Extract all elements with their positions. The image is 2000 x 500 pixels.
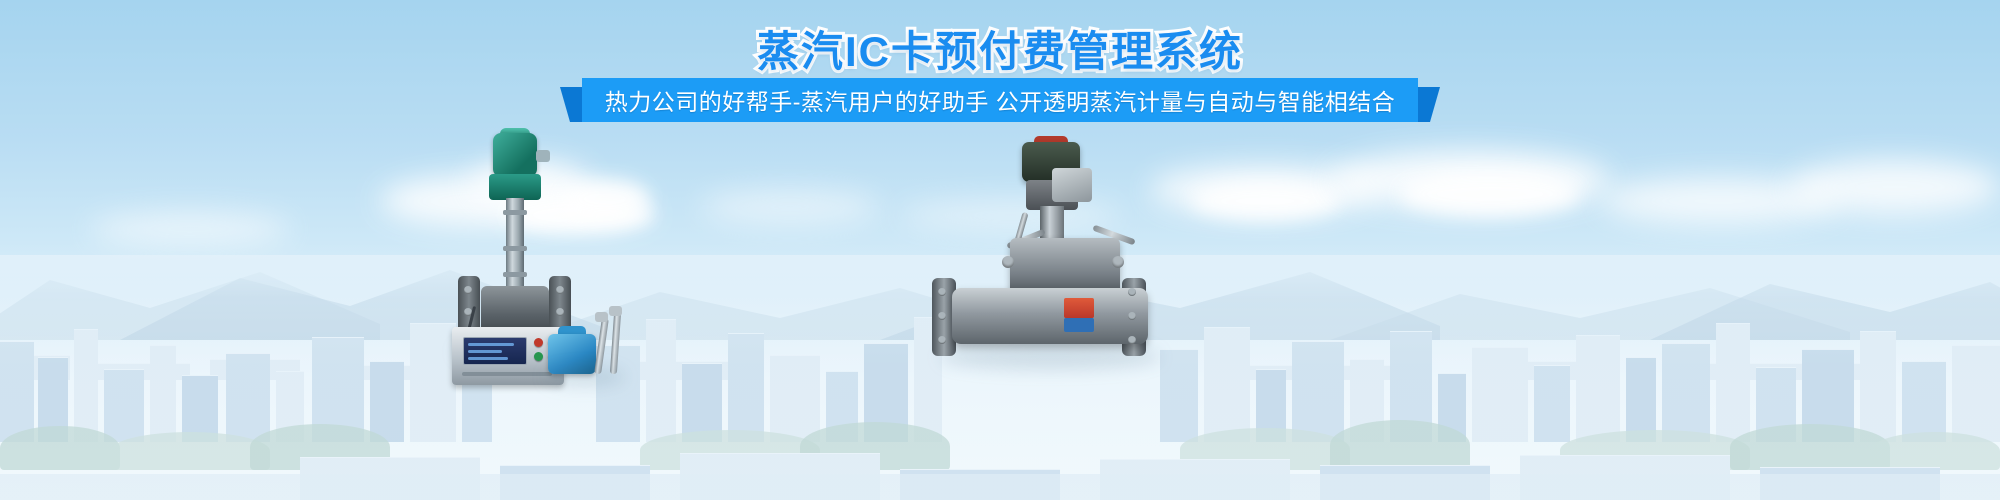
- cloud-shape: [1790, 160, 2000, 214]
- controller-button[interactable]: [534, 338, 543, 347]
- valve-nameplate-secondary: [1064, 318, 1094, 332]
- flange-bolt: [938, 312, 946, 320]
- meter-ring: [503, 246, 527, 251]
- valve-nameplate: [1064, 298, 1094, 318]
- flange-bolt: [938, 336, 946, 344]
- screen-readout-line: [468, 343, 514, 346]
- flange-bolt: [556, 286, 564, 294]
- meter-ring: [503, 272, 527, 277]
- flange-bolt: [1128, 312, 1136, 320]
- flange-bolt: [938, 288, 946, 296]
- flange-bolt: [1128, 336, 1136, 344]
- hero-banner: 蒸汽IC卡预付费管理系统 热力公司的好帮手-蒸汽用户的好助手 公开透明蒸汽计量与…: [0, 0, 2000, 500]
- meter-transmitter-head: [493, 133, 537, 177]
- banner-headline: 蒸汽IC卡预付费管理系统: [0, 18, 2000, 79]
- screen-readout-line: [468, 350, 502, 353]
- valve-knob: [1002, 256, 1014, 268]
- product-shadow: [545, 368, 625, 386]
- meter-ring: [503, 210, 527, 215]
- flange-bolt: [464, 286, 472, 294]
- meter-connector: [536, 150, 550, 162]
- banner-subtitle-ribbon: 热力公司的好帮手-蒸汽用户的好助手 公开透明蒸汽计量与自动与智能相结合: [0, 78, 2000, 122]
- controller-button[interactable]: [534, 352, 543, 361]
- meter-neck: [489, 174, 541, 200]
- flange-bolt: [1128, 288, 1136, 296]
- banner-subtitle: 热力公司的好帮手-蒸汽用户的好助手 公开透明蒸汽计量与自动与智能相结合: [582, 78, 1418, 122]
- valve-positioner: [1052, 168, 1092, 202]
- probe-tip: [609, 306, 622, 316]
- flange-bolt: [556, 308, 564, 316]
- valve-knob: [1112, 256, 1124, 268]
- screen-readout-line: [468, 357, 508, 360]
- valve-pipe-body: [952, 288, 1148, 344]
- probe-tip: [595, 312, 608, 322]
- housing-trim: [462, 372, 552, 376]
- ribbon-inner: 热力公司的好帮手-蒸汽用户的好助手 公开透明蒸汽计量与自动与智能相结合: [560, 78, 1440, 122]
